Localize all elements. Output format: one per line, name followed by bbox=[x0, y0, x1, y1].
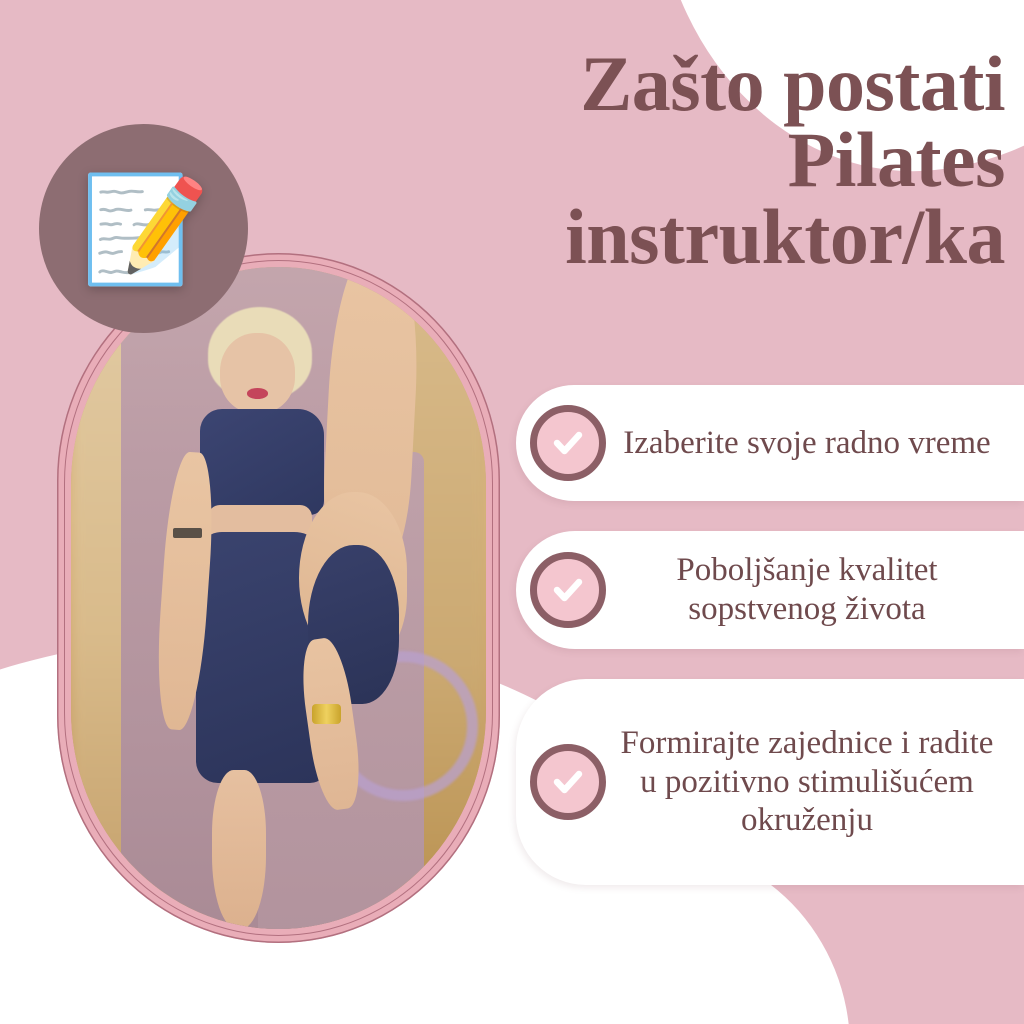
instructor-photo-frame bbox=[57, 253, 500, 943]
check-circle-icon bbox=[530, 405, 606, 481]
benefit-text: Poboljšanje kvalitet sopstvenog života bbox=[620, 551, 1002, 628]
poster-canvas: 📝 Zašto postati Pilates instruktor/ka Iz… bbox=[0, 0, 1024, 1024]
photo-wristwatch bbox=[312, 704, 341, 724]
benefits-list: Izaberite svoje radno vreme Poboljšanje … bbox=[516, 385, 1024, 885]
instructor-photo bbox=[71, 267, 486, 929]
clipboard-checklist-pencil-icon: 📝 bbox=[81, 179, 211, 283]
check-circle-icon bbox=[530, 552, 606, 628]
title-line-2: Pilates bbox=[470, 122, 1005, 198]
benefit-text: Izaberite svoje radno vreme bbox=[620, 424, 1002, 463]
check-circle-icon bbox=[530, 744, 606, 820]
photo-arm-tattoo bbox=[173, 528, 202, 537]
benefit-card: Izaberite svoje radno vreme bbox=[516, 385, 1024, 501]
photo-sports-top bbox=[200, 409, 325, 515]
benefit-card: Poboljšanje kvalitet sopstvenog života bbox=[516, 531, 1024, 649]
title-line-1: Zašto postati bbox=[470, 46, 1005, 122]
benefit-text: Formirajte zajednice i radite u pozitivn… bbox=[620, 724, 1002, 840]
page-title: Zašto postati Pilates instruktor/ka bbox=[470, 46, 1005, 275]
photo-lips bbox=[247, 388, 268, 399]
photo-calf bbox=[212, 770, 266, 929]
benefit-card: Formirajte zajednice i radite u pozitivn… bbox=[516, 679, 1024, 885]
checklist-badge: 📝 bbox=[39, 124, 248, 333]
photo-face bbox=[220, 333, 295, 412]
title-line-3: instruktor/ka bbox=[470, 199, 1005, 275]
